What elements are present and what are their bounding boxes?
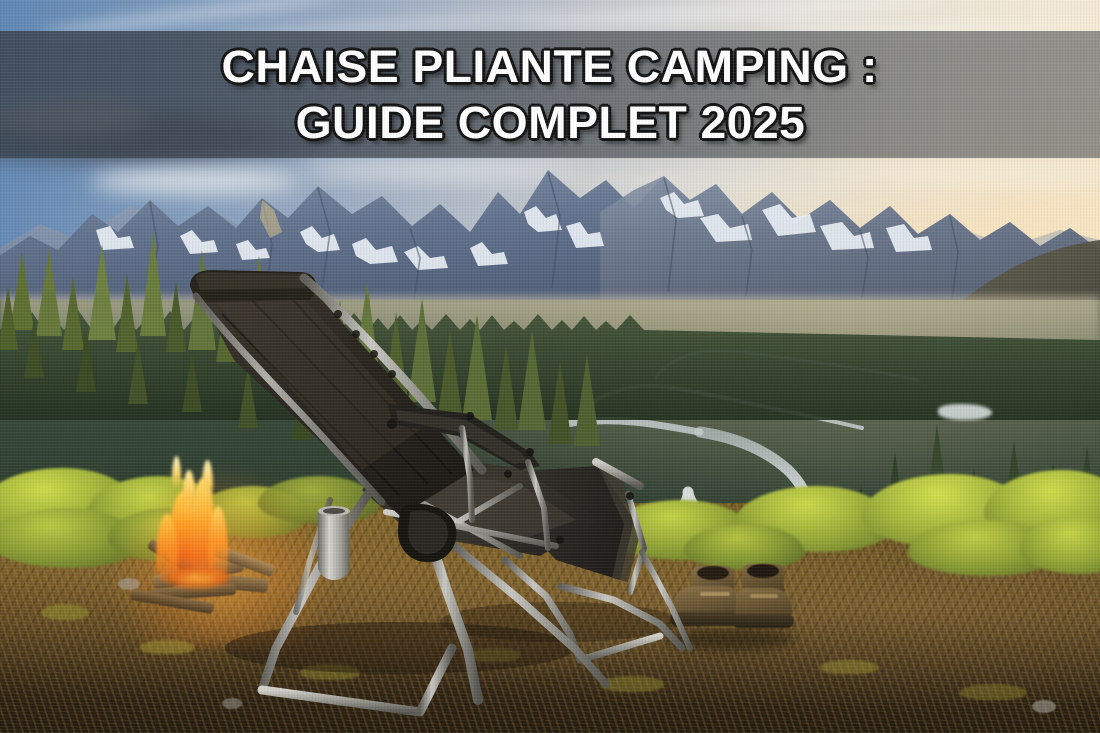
hero-banner: CHAISE PLIANTE CAMPING : GUIDE COMPLET 2… (0, 0, 1100, 733)
title-line-1: CHAISE PLIANTE CAMPING : (222, 39, 878, 95)
title-overlay: CHAISE PLIANTE CAMPING : GUIDE COMPLET 2… (0, 31, 1100, 158)
title-line-2: GUIDE COMPLET 2025 (295, 95, 805, 151)
